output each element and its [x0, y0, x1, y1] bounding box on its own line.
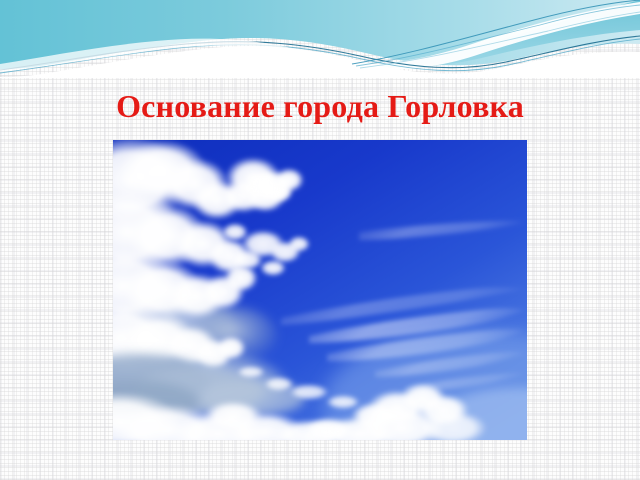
wave-white-crest-left — [0, 39, 292, 72]
wave-white-ribbon-right — [344, 2, 640, 69]
wave-thin-line-a — [352, 0, 640, 64]
header-wave-graphic — [0, 0, 640, 78]
wave-thin-line-b — [356, 5, 640, 66]
presentation-slide: Основание города Горловка — [0, 0, 640, 480]
teal-wave-header — [0, 0, 640, 78]
wave-teal-upper-right — [370, 0, 640, 68]
wave-accent-line-navy — [0, 36, 640, 70]
blue-sky-with-clouds-photo — [113, 140, 527, 440]
page-title: Основание города Горловка — [116, 86, 524, 126]
wave-thin-line-c — [360, 12, 640, 68]
title-placeholder: Основание города Горловка — [0, 78, 640, 134]
wave-teal-main — [0, 0, 640, 69]
wave-white-lower — [0, 46, 640, 78]
wave-accent-line-blue — [0, 39, 640, 73]
sky-photo-graphic — [113, 140, 527, 440]
